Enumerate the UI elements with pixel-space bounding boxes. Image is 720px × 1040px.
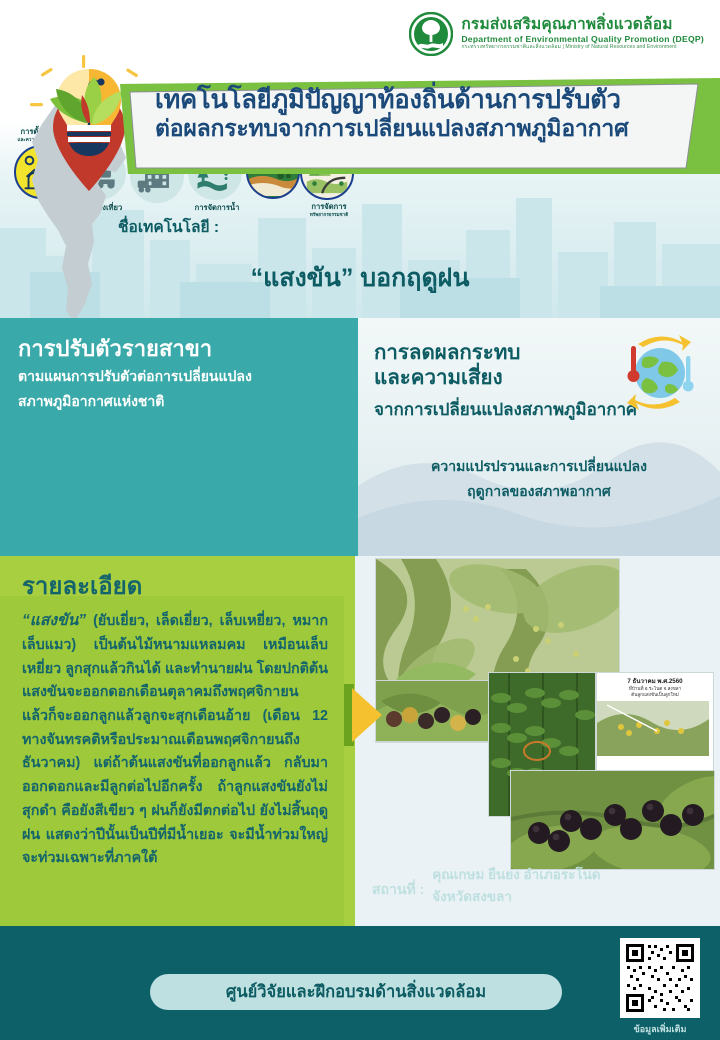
page-title: เทคโนโลยีภูมิปัญญาท้องถิ่นด้านการปรับตัว…: [155, 86, 700, 141]
org-ministry: กระทรวงทรัพยากรธรรมชาติและสิ่งแวดล้อม | …: [461, 45, 704, 50]
sector-label-water: การจัดการน้ำ: [188, 204, 246, 213]
location-label: สถานที่ :: [372, 864, 424, 901]
caption-thumbnail-image: [597, 701, 709, 756]
title-line-1: เทคโนโลยีภูมิปัญญาท้องถิ่นด้านการปรับตัว: [155, 86, 700, 115]
details-body-text: “แสงขัน” (ยับเยี่ยว, เล็ดเยี่ยว, เล็บเหย…: [22, 608, 328, 871]
details-body: (ยับเยี่ยว, เล็ดเยี่ยว, เล็บเหยี่ยว, หมา…: [22, 613, 328, 866]
org-name-en: Department of Environmental Quality Prom…: [461, 35, 704, 44]
mitigation-body-line-1: ความแปรปรวนและการเปลี่ยนแปลง: [358, 454, 720, 479]
qr-code[interactable]: [620, 938, 700, 1018]
mitigation-heading: การลดผลกระทบ และความเสี่ยง: [374, 340, 520, 390]
adaptation-subheading-2: สภาพภูมิอากาศแห่งชาติ: [18, 391, 344, 412]
research-center-pill[interactable]: ศูนย์วิจัยและฝึกอบรมด้านสิ่งแวดล้อม: [150, 974, 562, 1010]
location-line-1: คุณเกษม ยืนยง อำเภอระโนด: [432, 864, 600, 886]
photo-ripening-fruit: [375, 680, 495, 742]
deqp-emblem-icon: [409, 12, 453, 56]
mitigation-body-line-2: ฤดูกาลของสภาพอากาศ: [358, 479, 720, 504]
deqp-logo: กรมส่งเสริมคุณภาพสิ่งแวดล้อม Department …: [409, 12, 704, 56]
photo-dated-caption-card: 7 ธันวาคม พ.ศ.2560 ที่บ้านที่ อ.ระโนด จ.…: [596, 672, 714, 772]
caption-line-2: ต้นลูกแสงขันเป็นลูกใหม่: [597, 692, 713, 698]
technology-name-value: “แสงขัน” บอกฤดูฝน: [0, 258, 720, 298]
adaptation-sectors-panel: การปรับตัวรายสาขา ตามแผนการปรับตัวต่อการ…: [0, 318, 358, 556]
sector-label-natural-resource: การจัดการ: [300, 203, 358, 212]
header-background: เทคโนโลยีภูมิปัญญาท้องถิ่นด้านการปรับตัว…: [0, 0, 720, 318]
mitigation-body: ความแปรปรวนและการเปลี่ยนแปลง ฤดูกาลของสภ…: [358, 454, 720, 503]
details-title: รายละเอียด: [22, 566, 142, 605]
org-name-th: กรมส่งเสริมคุณภาพสิ่งแวดล้อม: [461, 17, 704, 33]
globe-thermometer-icon: [610, 330, 706, 416]
location-line-2: จังหวัดสงขลา: [432, 886, 600, 908]
caption-date: 7 ธันวาคม พ.ศ.2560: [597, 676, 713, 686]
mitigation-panel: การลดผลกระทบ และความเสี่ยง จากการเปลี่ยน…: [358, 318, 720, 556]
title-line-2: ต่อผลกระทบจากการเปลี่ยนแปลงสภาพภูมิอากาศ: [155, 115, 700, 141]
sector-sublabel-natural-resource: ทรัพยากรธรรมชาติ: [300, 212, 358, 218]
location-value: คุณเกษม ยืนยง อำเภอระโนด จังหวัดสงขลา: [432, 864, 600, 907]
mitigation-subheading: จากการเปลี่ยนแปลงสภาพภูมิอากาศ: [374, 396, 637, 423]
location-info: สถานที่ : คุณเกษม ยืนยง อำเภอระโนด จังหว…: [372, 864, 601, 907]
arrow-right-icon: [352, 688, 382, 742]
technology-name-label: ชื่อเทคโนโลยี :: [118, 214, 219, 239]
mitigation-heading-line-1: การลดผลกระทบ: [374, 340, 520, 365]
details-lead-term: “แสงขัน”: [22, 612, 86, 629]
qr-code-label: ข้อมูลเพิ่มเติม: [612, 1022, 708, 1036]
adaptation-heading: การปรับตัวรายสาขา: [18, 336, 344, 362]
photo-black-berries: [510, 770, 715, 870]
adaptation-subheading-1: ตามแผนการปรับตัวต่อการเปลี่ยนแปลง: [18, 366, 344, 387]
mitigation-heading-line-2: และความเสี่ยง: [374, 365, 520, 390]
poster-root: เทคโนโลยีภูมิปัญญาท้องถิ่นด้านการปรับตัว…: [0, 0, 720, 1040]
qr-code-image: [624, 942, 696, 1014]
